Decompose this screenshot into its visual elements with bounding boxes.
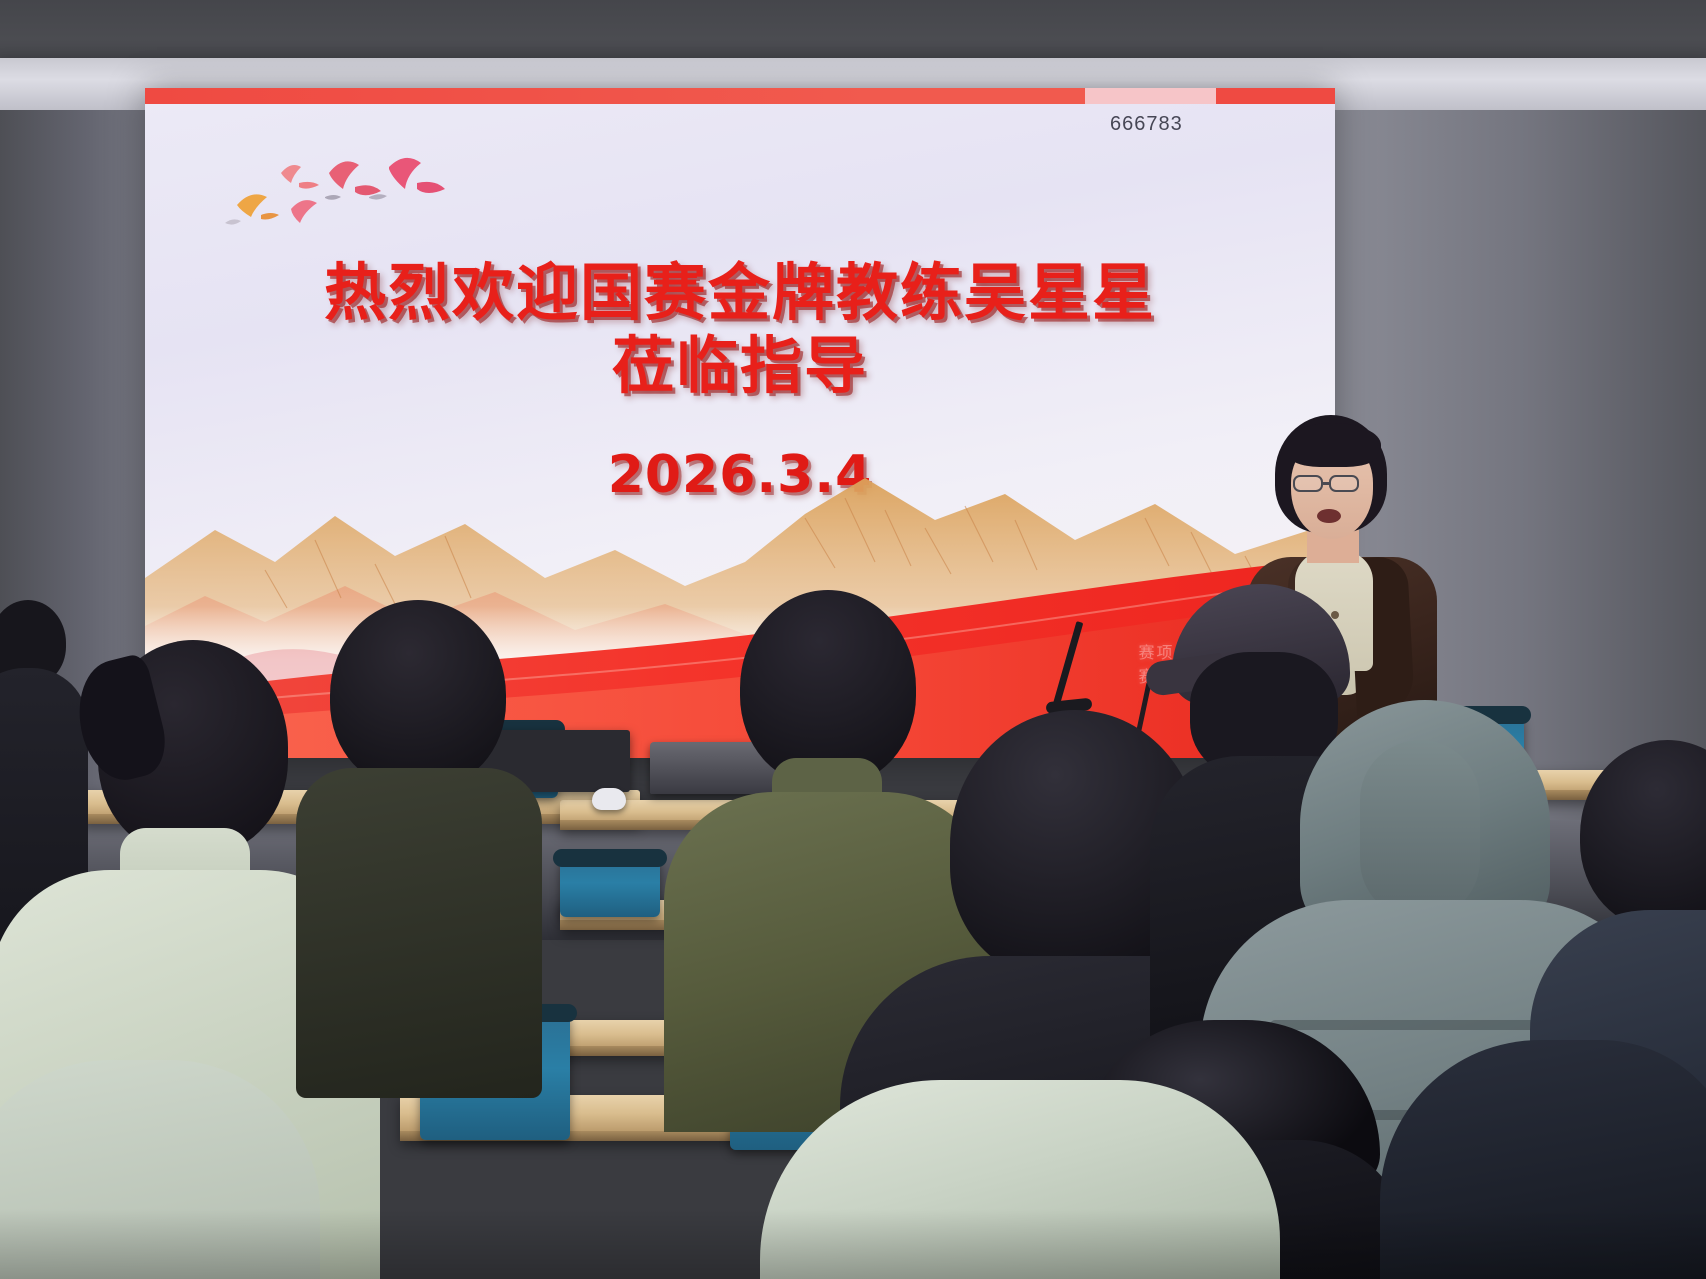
- hood-inner: [1360, 740, 1480, 920]
- flying-birds-icon: [203, 143, 453, 243]
- presenter-hair-front: [1285, 423, 1381, 467]
- computer-mouse: [592, 788, 626, 810]
- presenter-mouth: [1317, 509, 1341, 523]
- chair-back-center[interactable]: [560, 855, 660, 917]
- slide-accent-red-end: [1216, 88, 1335, 104]
- photo-scene: 666783 热烈欢迎国赛金牌教练吴星星 莅临指导 2026.3.: [0, 0, 1706, 1279]
- slide-top-accent-bar: [145, 88, 1335, 104]
- glasses-lens-right-icon: [1329, 475, 1359, 492]
- glasses-lens-left-icon: [1293, 475, 1323, 492]
- slide-title-line-2: 莅临指导: [145, 331, 1335, 400]
- bottom-vignette: [0, 1209, 1706, 1279]
- glasses-bridge-icon: [1323, 482, 1331, 485]
- slide-watermark: 666783: [1110, 113, 1183, 136]
- slide-accent-pink-segment: [1085, 88, 1216, 104]
- attendee-left-dark-hair: [300, 600, 540, 1070]
- slide-title-line-1: 热烈欢迎国赛金牌教练吴星星: [145, 258, 1335, 327]
